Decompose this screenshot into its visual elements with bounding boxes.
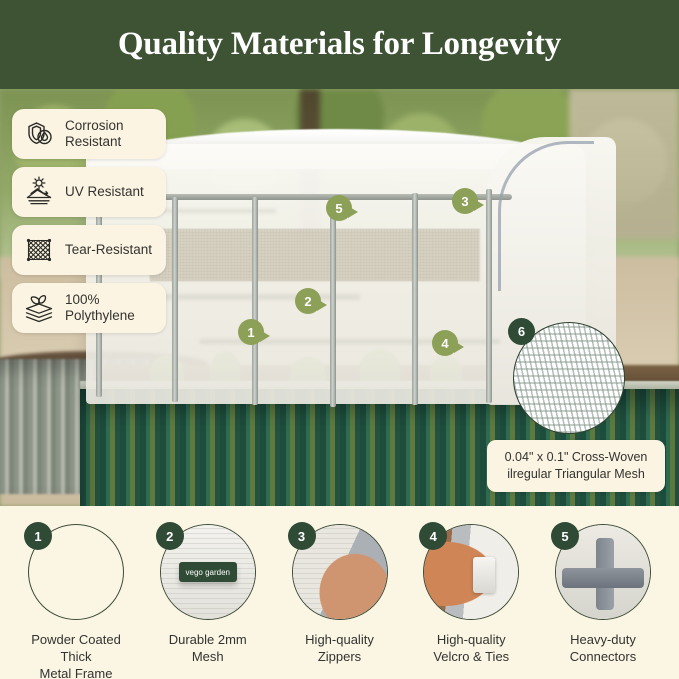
sun-uv-layers-icon — [22, 175, 56, 209]
badge-tear-resistant: Tear-Resistant — [12, 225, 166, 275]
feature-number-badge: 3 — [288, 522, 316, 550]
badge-label: 100% Polythylene — [65, 292, 135, 324]
badge-uv-resistant: UV Resistant — [12, 167, 166, 217]
photo-marker-4[interactable]: 4 — [432, 330, 458, 356]
feature-number: 1 — [34, 529, 41, 544]
photo-marker-number: 4 — [441, 336, 448, 351]
mesh-spec-caption: 0.04" x 0.1" Cross-Woven ilregular Trian… — [487, 440, 665, 492]
frame-pole — [486, 189, 492, 403]
feature-label: High-quality Zippers — [305, 631, 374, 665]
feature-label: Heavy-duty Connectors — [570, 631, 636, 665]
shield-droplet-icon — [22, 117, 56, 151]
frame-pole — [252, 197, 258, 405]
photo-marker-1[interactable]: 1 — [238, 319, 264, 345]
photo-marker-number: 1 — [247, 325, 254, 340]
photo-marker-number: 3 — [461, 194, 468, 209]
badge-corrosion-resistant: Corrosion Resistant — [12, 109, 166, 159]
feature-item-5: 5 Heavy-duty Connectors — [541, 524, 665, 679]
material-feature-badges: Corrosion Resistant UV Resistant — [12, 109, 166, 333]
photo-marker-6[interactable]: 6 — [508, 318, 535, 345]
brand-tag: vego garden — [179, 562, 237, 582]
frame-pole — [330, 197, 336, 407]
mesh-vent-window — [150, 229, 480, 281]
feature-thumb-wrap: 5 — [555, 524, 651, 620]
feature-thumb-wrap: vego garden 2 — [160, 524, 256, 620]
page-header: Quality Materials for Longevity — [0, 0, 679, 89]
photo-marker-3[interactable]: 3 — [452, 188, 478, 214]
badge-label: UV Resistant — [65, 184, 144, 200]
feature-strip: 1 Powder Coated Thick Metal Frame vego g… — [0, 506, 679, 679]
frame-pole — [172, 197, 178, 402]
photo-marker-5[interactable]: 5 — [326, 195, 352, 221]
feature-item-1: 1 Powder Coated Thick Metal Frame — [14, 524, 138, 679]
feature-number-badge: 2 — [156, 522, 184, 550]
feature-thumb-wrap: 3 — [292, 524, 388, 620]
feature-thumb-wrap: 4 — [423, 524, 519, 620]
feature-number-badge: 5 — [551, 522, 579, 550]
photo-marker-2[interactable]: 2 — [295, 288, 321, 314]
layers-leaf-icon — [22, 291, 56, 325]
feature-thumb-wrap: 1 — [28, 524, 124, 620]
photo-marker-number: 5 — [335, 201, 342, 216]
feature-number: 4 — [430, 529, 437, 544]
badge-label: Corrosion Resistant — [65, 118, 124, 150]
infographic-page: Quality Materials for Longevity — [0, 0, 679, 679]
feature-item-3: 3 High-quality Zippers — [278, 524, 402, 679]
feature-item-2: vego garden 2 Durable 2mm Mesh — [146, 524, 270, 679]
mesh-net-icon — [22, 233, 56, 267]
feature-item-4: 4 High-quality Velcro & Ties — [409, 524, 533, 679]
feature-label: Durable 2mm Mesh — [169, 631, 247, 665]
feature-number: 2 — [166, 529, 173, 544]
feature-label: High-quality Velcro & Ties — [433, 631, 509, 665]
frame-pole — [412, 193, 418, 405]
badge-polyethylene: 100% Polythylene — [12, 283, 166, 333]
photo-marker-number: 6 — [518, 324, 525, 339]
feature-number: 5 — [561, 529, 568, 544]
feature-number: 3 — [298, 529, 305, 544]
photo-marker-number: 2 — [304, 294, 311, 309]
feature-label: Powder Coated Thick Metal Frame — [14, 631, 138, 679]
feature-number-badge: 1 — [24, 522, 52, 550]
badge-label: Tear-Resistant — [65, 242, 152, 258]
page-title: Quality Materials for Longevity — [118, 26, 561, 63]
